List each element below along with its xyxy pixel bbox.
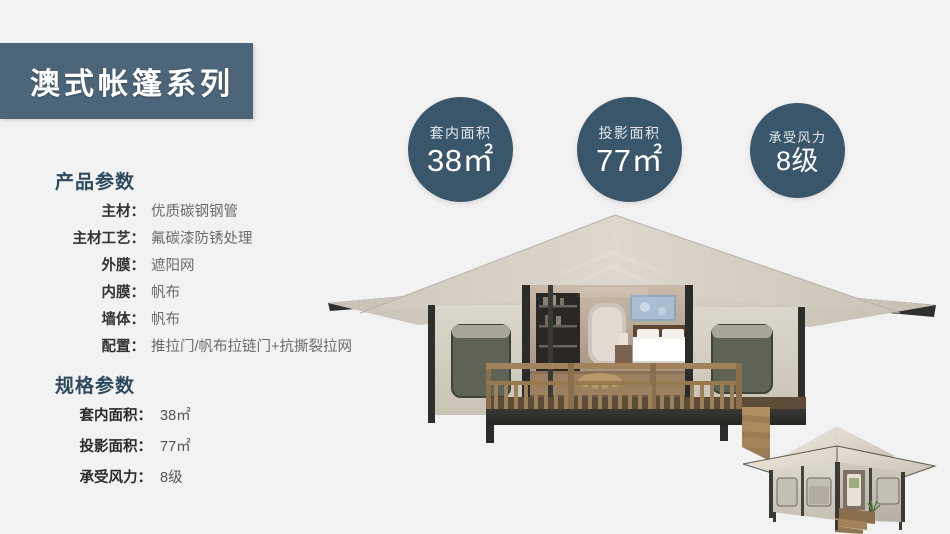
door-post-mid bbox=[548, 285, 553, 397]
door-post-right bbox=[685, 285, 693, 397]
param-value: 帆布 bbox=[145, 281, 180, 302]
param-key: 承受风力： bbox=[40, 466, 152, 487]
param-value: 遮阳网 bbox=[145, 254, 195, 275]
steel-post-left bbox=[428, 305, 435, 423]
product-parameters-heading: 产品参数 bbox=[55, 167, 135, 194]
stat-label: 投影面积 bbox=[599, 123, 661, 143]
param-key: 主材工艺： bbox=[40, 227, 145, 248]
spec-parameters-list: 套内面积： 38㎡ 投影面积： 77㎡ 承受风力： 8级 bbox=[40, 404, 191, 497]
param-value: 帆布 bbox=[145, 308, 180, 329]
param-value: 8级 bbox=[152, 466, 183, 487]
param-key: 主材： bbox=[40, 200, 145, 221]
param-value: 氟碳漆防锈处理 bbox=[145, 227, 253, 248]
title-banner: 澳式帐篷系列 bbox=[0, 43, 253, 119]
window-right-shade bbox=[712, 325, 772, 338]
deck-leg-right bbox=[720, 425, 728, 441]
stat-value: 38㎡ bbox=[427, 145, 494, 176]
param-value: 38㎡ bbox=[152, 404, 191, 425]
spec-parameters-heading: 规格参数 bbox=[55, 371, 135, 398]
param-key: 配置： bbox=[40, 335, 145, 356]
param-key: 墙体： bbox=[40, 308, 145, 329]
slide-root: 澳式帐篷系列 产品参数 主材： 优质碳钢钢管 主材工艺： 氟碳漆防锈处理 外膜：… bbox=[0, 0, 950, 534]
stat-badge-wind-resistance: 承受风力 8级 bbox=[750, 103, 845, 198]
param-row: 投影面积： 77㎡ bbox=[40, 435, 191, 466]
param-key: 投影面积： bbox=[40, 435, 152, 456]
title-banner-text: 澳式帐篷系列 bbox=[0, 59, 234, 103]
stat-label: 套内面积 bbox=[430, 123, 492, 143]
param-key: 套内面积： bbox=[40, 404, 152, 425]
param-row: 套内面积： 38㎡ bbox=[40, 404, 191, 435]
stat-value: 8级 bbox=[776, 148, 819, 175]
param-value: 77㎡ bbox=[152, 435, 191, 456]
thumbnail-tent-image bbox=[735, 408, 950, 534]
interior-lamp bbox=[619, 333, 628, 345]
param-key: 内膜： bbox=[40, 281, 145, 302]
stat-value: 77㎡ bbox=[596, 145, 663, 176]
door-post-left bbox=[522, 285, 530, 397]
param-key: 外膜： bbox=[40, 254, 145, 275]
stat-label: 承受风力 bbox=[768, 127, 826, 146]
window-left-shade bbox=[452, 325, 510, 338]
param-value: 优质碳钢钢管 bbox=[145, 200, 238, 221]
param-row: 承受风力： 8级 bbox=[40, 466, 191, 497]
deck-leg-left bbox=[486, 425, 494, 443]
